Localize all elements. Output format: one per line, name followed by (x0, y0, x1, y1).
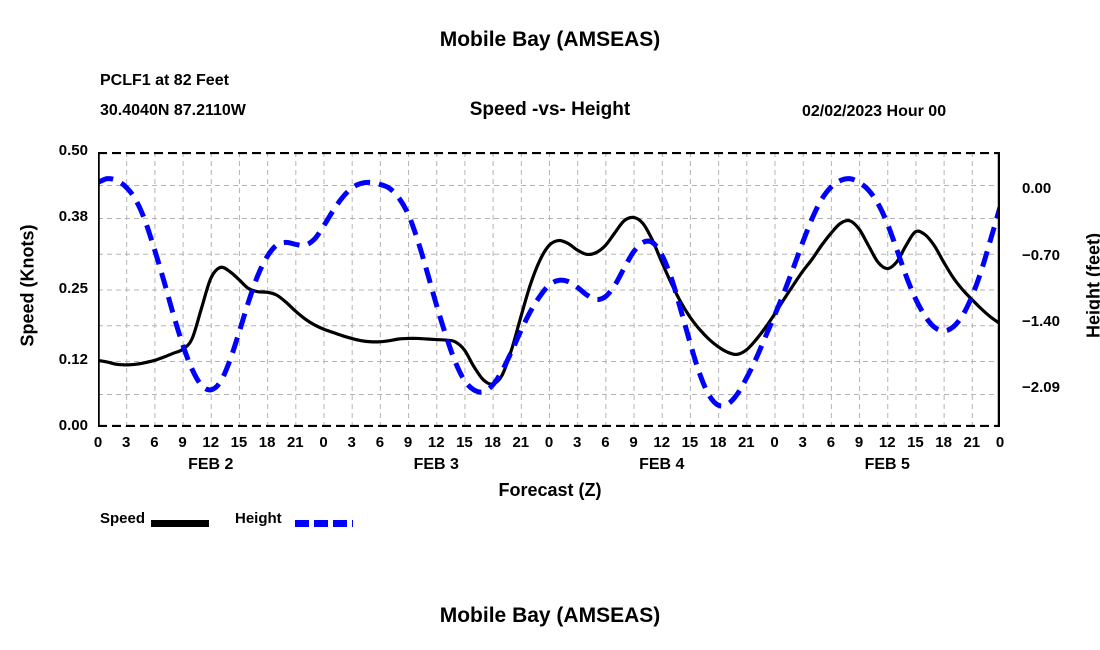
y-axis-left-tick-label: 0.38 (59, 208, 88, 225)
y-axis-left-tick-label: 0.00 (59, 417, 88, 434)
x-axis-tick-label: 0 (309, 434, 339, 451)
x-axis-tick-label: 18 (252, 434, 282, 451)
y-axis-right-tick-label: −0.70 (1022, 247, 1060, 264)
y-axis-left-tick-label: 0.12 (59, 351, 88, 368)
x-axis-tick-label: 6 (139, 434, 169, 451)
x-axis-tick-label: 12 (421, 434, 451, 451)
x-axis-tick-label: 9 (393, 434, 423, 451)
station-info: PCLF1 at 82 Feet (100, 72, 229, 90)
y-axis-left-label: Speed (Knots) (18, 196, 39, 376)
x-axis-day-label: FEB 5 (827, 456, 947, 474)
model-run-timestamp: 02/02/2023 Hour 00 (802, 103, 946, 121)
x-axis-tick-label: 15 (675, 434, 705, 451)
legend-label: Height (235, 510, 282, 527)
x-axis-tick-label: 6 (816, 434, 846, 451)
x-axis-tick-label: 6 (590, 434, 620, 451)
y-axis-right-tick-label: −1.40 (1022, 313, 1060, 330)
y-axis-right-tick-label: 0.00 (1022, 180, 1051, 197)
x-axis-tick-label: 18 (703, 434, 733, 451)
y-axis-right-label: Height (feet) (1084, 196, 1100, 376)
x-axis-tick-label: 15 (900, 434, 930, 451)
legend-swatch-height (295, 520, 353, 527)
x-axis-tick-label: 0 (760, 434, 790, 451)
x-axis-tick-label: 15 (449, 434, 479, 451)
x-axis-tick-label: 6 (365, 434, 395, 451)
x-axis-tick-label: 21 (957, 434, 987, 451)
x-axis-tick-label: 3 (562, 434, 592, 451)
x-axis-tick-label: 18 (929, 434, 959, 451)
x-axis-tick-label: 12 (872, 434, 902, 451)
x-axis-day-label: FEB 4 (602, 456, 722, 474)
legend-label: Speed (100, 510, 145, 527)
page-title-top: Mobile Bay (AMSEAS) (0, 28, 1100, 52)
x-axis-day-label: FEB 2 (151, 456, 271, 474)
x-axis-tick-label: 12 (196, 434, 226, 451)
x-axis-tick-label: 12 (647, 434, 677, 451)
x-axis-tick-label: 21 (280, 434, 310, 451)
x-axis-tick-label: 3 (788, 434, 818, 451)
x-axis-tick-label: 21 (731, 434, 761, 451)
x-axis-tick-label: 0 (534, 434, 564, 451)
legend-swatch-speed (151, 520, 209, 527)
x-axis-tick-label: 0 (83, 434, 113, 451)
page-title-bottom: Mobile Bay (AMSEAS) (0, 604, 1100, 628)
plot-area (98, 152, 1000, 427)
x-axis-tick-label: 15 (224, 434, 254, 451)
x-axis-tick-label: 3 (337, 434, 367, 451)
chart-page: Mobile Bay (AMSEAS) PCLF1 at 82 Feet 30.… (0, 0, 1100, 650)
y-axis-left-tick-label: 0.25 (59, 280, 88, 297)
y-axis-right-tick-label: −2.09 (1022, 379, 1060, 396)
x-axis-tick-label: 18 (478, 434, 508, 451)
x-axis-tick-label: 9 (844, 434, 874, 451)
x-axis-tick-label: 21 (506, 434, 536, 451)
x-axis-tick-label: 3 (111, 434, 141, 451)
x-axis-tick-label: 9 (619, 434, 649, 451)
plot-svg (98, 152, 1000, 427)
x-axis-label: Forecast (Z) (0, 480, 1100, 501)
x-axis-day-label: FEB 3 (376, 456, 496, 474)
x-axis-tick-label: 9 (168, 434, 198, 451)
y-axis-left-tick-label: 0.50 (59, 142, 88, 159)
grid-lines (98, 152, 1000, 427)
x-axis-tick-label: 0 (985, 434, 1015, 451)
